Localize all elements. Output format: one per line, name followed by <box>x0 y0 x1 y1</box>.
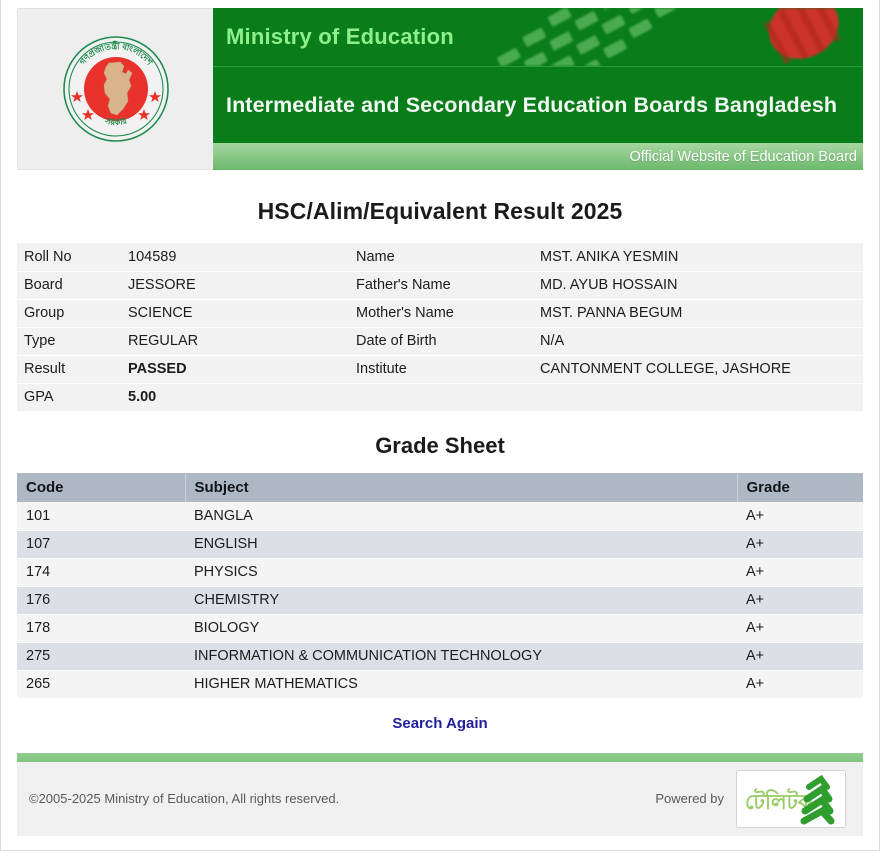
header-banner: Ministry of Education Intermediate and S… <box>213 8 863 170</box>
gpa-value: 5.00 <box>121 383 349 411</box>
powered-by-label: Powered by <box>655 791 724 806</box>
emblem-container: গণপ্রজাতন্ত্রী বাংলাদেশ সরকার <box>17 8 213 170</box>
grade-sheet-title: Grade Sheet <box>17 433 863 459</box>
subject-code: 107 <box>17 530 185 558</box>
subject-grade: A+ <box>737 530 863 558</box>
table-row: 176 CHEMISTRY A+ <box>17 586 863 614</box>
info-label: Name <box>349 243 533 271</box>
info-label: Date of Birth <box>349 327 533 355</box>
teletalk-logo-icon: টেলিটক <box>736 770 846 828</box>
column-header-subject: Subject <box>185 473 737 502</box>
table-row: 275 INFORMATION & COMMUNICATION TECHNOLO… <box>17 642 863 670</box>
subject-name: HIGHER MATHEMATICS <box>185 670 737 698</box>
subject-name: CHEMISTRY <box>185 586 737 614</box>
subject-grade: A+ <box>737 502 863 530</box>
subject-name: PHYSICS <box>185 558 737 586</box>
info-value: REGULAR <box>121 327 349 355</box>
subject-grade: A+ <box>737 558 863 586</box>
info-value: N/A <box>533 327 863 355</box>
board-band: Intermediate and Secondary Education Boa… <box>213 66 863 143</box>
table-row: Roll No 104589 Name MST. ANIKA YESMIN <box>17 243 863 271</box>
info-label: GPA <box>17 383 121 411</box>
search-again-container: Search Again <box>17 715 863 749</box>
result-page: গণপ্রজাতন্ত্রী বাংলাদেশ সরকার <box>0 0 880 851</box>
info-label: Roll No <box>17 243 121 271</box>
info-value: JESSORE <box>121 271 349 299</box>
info-label: Type <box>17 327 121 355</box>
powered-by-container: Powered by টেলিটক <box>655 770 846 828</box>
subject-grade: A+ <box>737 670 863 698</box>
info-label: Institute <box>349 355 533 383</box>
table-row: 174 PHYSICS A+ <box>17 558 863 586</box>
subject-name: ENGLISH <box>185 530 737 558</box>
column-header-grade: Grade <box>737 473 863 502</box>
subject-name: INFORMATION & COMMUNICATION TECHNOLOGY <box>185 642 737 670</box>
info-value: MD. AYUB HOSSAIN <box>533 271 863 299</box>
site-header: গণপ্রজাতন্ত্রী বাংলাদেশ সরকার <box>17 8 863 170</box>
table-row: Board JESSORE Father's Name MD. AYUB HOS… <box>17 271 863 299</box>
subject-code: 275 <box>17 642 185 670</box>
info-value <box>533 383 863 411</box>
table-row: Result PASSED Institute CANTONMENT COLLE… <box>17 355 863 383</box>
info-label: Group <box>17 299 121 327</box>
subject-code: 265 <box>17 670 185 698</box>
page-title: HSC/Alim/Equivalent Result 2025 <box>17 198 863 225</box>
subject-name: BIOLOGY <box>185 614 737 642</box>
info-value: MST. PANNA BEGUM <box>533 299 863 327</box>
footer-divider <box>17 753 863 762</box>
info-value: SCIENCE <box>121 299 349 327</box>
info-label: Board <box>17 271 121 299</box>
search-again-link[interactable]: Search Again <box>392 715 487 732</box>
subject-grade: A+ <box>737 586 863 614</box>
table-row: 107 ENGLISH A+ <box>17 530 863 558</box>
government-emblem-icon: গণপ্রজাতন্ত্রী বাংলাদেশ সরকার <box>60 33 172 145</box>
info-label <box>349 383 533 411</box>
subject-code: 174 <box>17 558 185 586</box>
student-info-table: Roll No 104589 Name MST. ANIKA YESMIN Bo… <box>17 243 863 411</box>
column-header-code: Code <box>17 473 185 502</box>
info-value: CANTONMENT COLLEGE, JASHORE <box>533 355 863 383</box>
info-label: Result <box>17 355 121 383</box>
subject-code: 178 <box>17 614 185 642</box>
copyright-text: ©2005-2025 Ministry of Education, All ri… <box>29 791 339 806</box>
table-header-row: Code Subject Grade <box>17 473 863 502</box>
grade-sheet-table: Code Subject Grade 101 BANGLA A+ 107 ENG… <box>17 473 863 699</box>
site-footer: ©2005-2025 Ministry of Education, All ri… <box>17 762 863 836</box>
subject-grade: A+ <box>737 614 863 642</box>
result-status-value: PASSED <box>121 355 349 383</box>
subject-code: 101 <box>17 502 185 530</box>
table-row: 178 BIOLOGY A+ <box>17 614 863 642</box>
board-title: Intermediate and Secondary Education Boa… <box>226 92 863 118</box>
table-row: GPA 5.00 <box>17 383 863 411</box>
table-row: Group SCIENCE Mother's Name MST. PANNA B… <box>17 299 863 327</box>
info-value: MST. ANIKA YESMIN <box>533 243 863 271</box>
table-row: 101 BANGLA A+ <box>17 502 863 530</box>
official-site-label: Official Website of Education Board <box>629 149 857 165</box>
subject-name: BANGLA <box>185 502 737 530</box>
info-value: 104589 <box>121 243 349 271</box>
flag-decoration-icon <box>443 8 863 66</box>
ministry-band: Ministry of Education <box>213 8 863 66</box>
subject-grade: A+ <box>737 642 863 670</box>
table-row: 265 HIGHER MATHEMATICS A+ <box>17 670 863 698</box>
ministry-title: Ministry of Education <box>213 24 454 50</box>
subject-code: 176 <box>17 586 185 614</box>
info-label: Mother's Name <box>349 299 533 327</box>
table-row: Type REGULAR Date of Birth N/A <box>17 327 863 355</box>
official-site-band: Official Website of Education Board <box>213 143 863 170</box>
info-label: Father's Name <box>349 271 533 299</box>
